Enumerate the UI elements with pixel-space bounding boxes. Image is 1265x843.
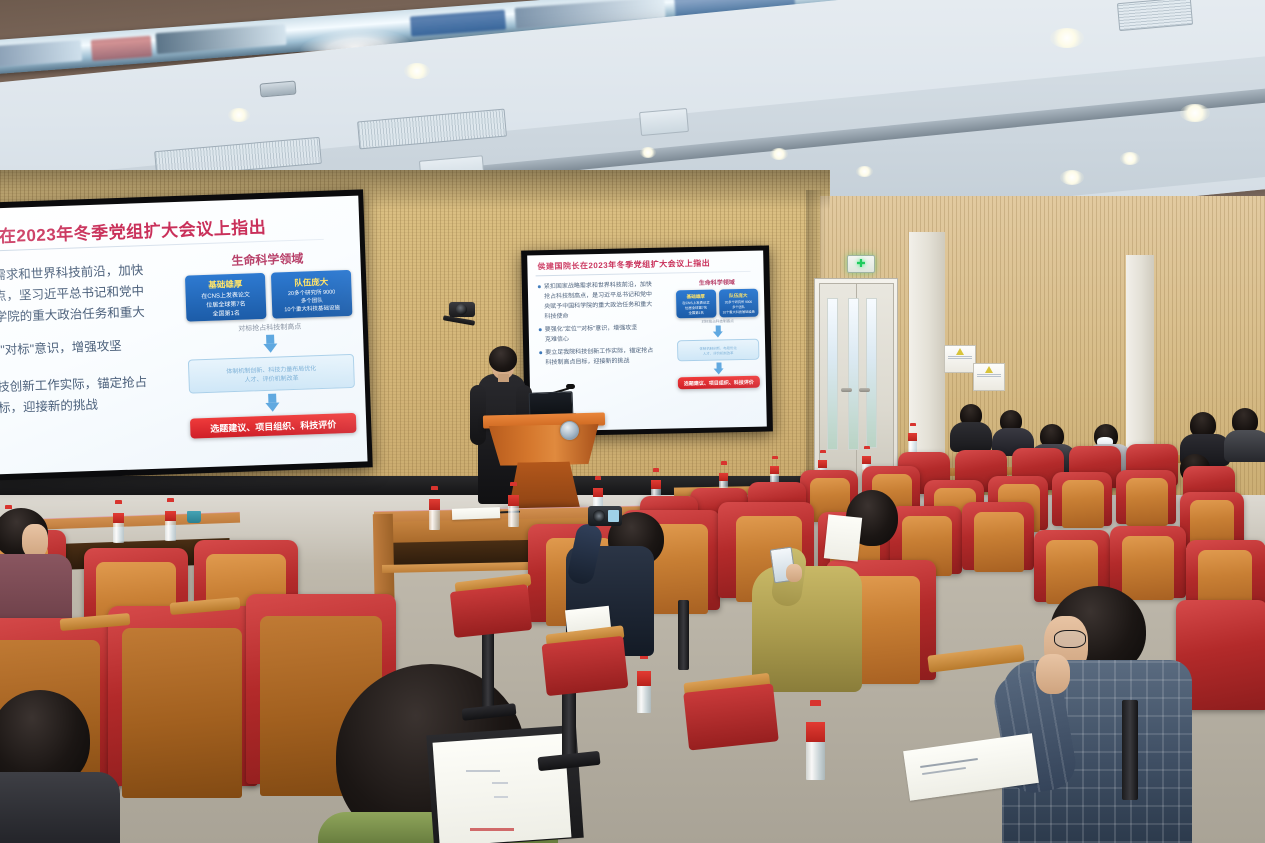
- attendee-phone-user-body: [752, 566, 862, 692]
- attendee-handout: [433, 734, 572, 843]
- warning-triangle-icon: [956, 348, 964, 355]
- diagram-box-left: 基础雄厚 在CNS上发表论文 位居全球第7名 全国第1名: [676, 290, 716, 319]
- attendee-torso: [950, 422, 992, 452]
- left-slide: 长在2023年冬季党组扩大会议上指出 略需求和世界科技前沿，加快 高点，坚习近平…: [0, 196, 368, 475]
- podium-body: [489, 424, 600, 466]
- seat-cushion: [450, 584, 532, 638]
- eyeglasses: [1054, 630, 1086, 648]
- seat-pedestal: [678, 600, 689, 670]
- right-slide-title: 侯建国院长在2023年冬季党组扩大会议上指出: [537, 258, 710, 273]
- box-line: 10个重大科技基础设施: [722, 308, 754, 314]
- seat-wood-back: [1122, 536, 1174, 600]
- ceiling-downlight: [1180, 104, 1210, 122]
- diagram-bottom-box: 选题建议、项目组织、科技评价: [678, 376, 760, 390]
- box-line: 10个重大科技基础设施: [284, 303, 340, 313]
- middle-box-line: 人才、评价机制改革: [703, 350, 734, 356]
- bullet-text: 科技使命: [544, 311, 568, 321]
- middle-box-line: 人才、评价机制改革: [244, 373, 298, 384]
- diagram-box-right: 队伍庞大 20多个研究所 9000 多个团队 10个重大科技基础设施: [271, 270, 353, 319]
- water-bottle: [113, 500, 124, 543]
- ceiling-downlight: [640, 147, 656, 158]
- diagram-arrow-icon: [263, 344, 277, 353]
- podium-emblem: [560, 421, 579, 440]
- bullet-text: 科学院的重大政治任务和重大: [0, 301, 145, 326]
- door-glass-panel: [848, 298, 859, 450]
- seat-wood-back: [122, 628, 242, 798]
- water-bottle: [908, 423, 917, 455]
- door-glass-panel: [827, 298, 838, 450]
- diagram-title: 生命科学领域: [184, 248, 350, 271]
- diagram-middle-box: 体制机制创新、科技力量布局优化 人才、评价机制改革: [188, 354, 355, 394]
- ceiling-access-hatch: [639, 108, 689, 136]
- seat-cushion: [683, 683, 779, 750]
- seat-pedestal: [1122, 700, 1138, 800]
- diagram-arrow-icon: [265, 402, 279, 411]
- presenter-neck: [498, 374, 509, 382]
- right-slide-bullet: 克难信心: [539, 331, 671, 343]
- diagram-arrow-stem: [268, 394, 276, 403]
- diagram-middle-box: 体制机制创新、布局优化 人才、评价机制改革: [677, 339, 759, 362]
- left-slide-bullet: 位""对标"意识，增强攻坚: [0, 332, 198, 358]
- seat-wood-back: [1126, 478, 1168, 526]
- compact-camera[interactable]: [588, 506, 622, 526]
- diagram-caption: 对标抢占科技制高点: [677, 319, 759, 326]
- attendee-front-left-face: [22, 524, 48, 558]
- attendee-plaid-hand: [1036, 654, 1070, 694]
- diagram-title: 生命科学领域: [676, 277, 758, 288]
- bullet-text: 要强化"定位""对标"意识，增强攻坚: [545, 322, 638, 333]
- wall-column: [1126, 255, 1154, 470]
- diagram-arrow-stem: [266, 335, 274, 344]
- diagram-caption: 对标抢占科技制高点: [187, 320, 353, 336]
- door-handle[interactable]: [841, 388, 852, 392]
- seat-cushion: [542, 636, 629, 696]
- diagram-arrow-icon: [714, 368, 724, 374]
- ceiling-downlight: [228, 108, 250, 122]
- box-line: 全国第1名: [688, 309, 704, 314]
- right-slide-bullet: 科技使命: [538, 309, 670, 321]
- ceiling-downlight: [856, 166, 873, 177]
- wall-notice-sign: [973, 363, 1005, 391]
- bullet-text: 克难信心: [545, 334, 569, 344]
- attendee-near-left-torso: [0, 772, 120, 843]
- right-slide-diagram: 生命科学领域 基础雄厚 在CNS上发表论文 位居全球第7名 全国第1名 队伍庞大…: [676, 277, 760, 390]
- right-slide-bullet: 科技制高点目标，迎接新的挑战: [539, 354, 671, 366]
- left-slide-diagram: 生命科学领域 基础雄厚 在CNS上发表论文 位居全球第7名 全国第1名 队伍庞大…: [184, 248, 356, 439]
- desk-paper-sheet: [452, 507, 500, 520]
- podium-microphone-head: [566, 384, 575, 389]
- presenter-hair: [489, 346, 517, 372]
- water-bottle: [508, 482, 519, 527]
- water-bottle: [806, 700, 825, 780]
- bullet-text: 位""对标"意识，增强攻坚: [0, 335, 122, 359]
- diagram-box-right: 队伍庞大 20多个研究所 9000 多个团队 10个重大科技基础设施: [718, 289, 758, 318]
- seat-wood-back: [1062, 480, 1104, 528]
- water-bottle: [429, 486, 440, 530]
- wall-notice-sign: [944, 345, 976, 373]
- teal-cup: [187, 511, 201, 523]
- door-glass-panel: [866, 298, 877, 448]
- attendee-handout: [824, 514, 862, 561]
- attendee-torso: [1224, 430, 1265, 462]
- handout-writing: [494, 796, 508, 798]
- left-slide-bullet: 目标，迎接新的挑战: [0, 390, 200, 416]
- diagram-box-left: 基础雄厚 在CNS上发表论文 位居全球第7名 全国第1名: [185, 273, 267, 322]
- exit-cross-icon: ✚: [856, 259, 865, 270]
- ceiling-downlight: [404, 63, 430, 79]
- auditorium-photo: ✚ 长在2023年冬季党组扩大会议上指出 略需求和世界科技前沿，加快 高点，坚习…: [0, 0, 1265, 843]
- bullet-text: 科技制高点目标，迎接新的挑战: [545, 355, 629, 366]
- handout-writing: [466, 770, 500, 772]
- ceiling-downlight: [1050, 28, 1084, 48]
- ceiling-downlight: [770, 148, 788, 160]
- ceiling-downlight: [1060, 170, 1084, 185]
- box-line: 全国第1名: [212, 307, 240, 317]
- handout-writing: [470, 828, 514, 831]
- attendee-hand: [786, 564, 802, 582]
- exit-sign: ✚: [847, 255, 875, 273]
- ceiling-downlight: [1120, 152, 1140, 165]
- left-projection-screen: 长在2023年冬季党组扩大会议上指出 略需求和世界科技前沿，加快 高点，坚习近平…: [0, 189, 373, 480]
- seat-wood-back: [974, 512, 1024, 572]
- bullet-text: 目标，迎接新的挑战: [0, 394, 98, 417]
- diagram-bottom-box: 选题建议、项目组织、科技评价: [190, 413, 357, 439]
- left-slide-bullet: 科学院的重大政治任务和重大: [0, 299, 196, 325]
- camera-lens-icon: [456, 304, 467, 315]
- water-bottle: [637, 654, 651, 713]
- water-bottle: [165, 498, 176, 541]
- handout-writing: [492, 782, 508, 784]
- door-handle[interactable]: [859, 388, 870, 392]
- diagram-arrow-icon: [713, 331, 723, 337]
- warning-triangle-icon: [985, 366, 993, 373]
